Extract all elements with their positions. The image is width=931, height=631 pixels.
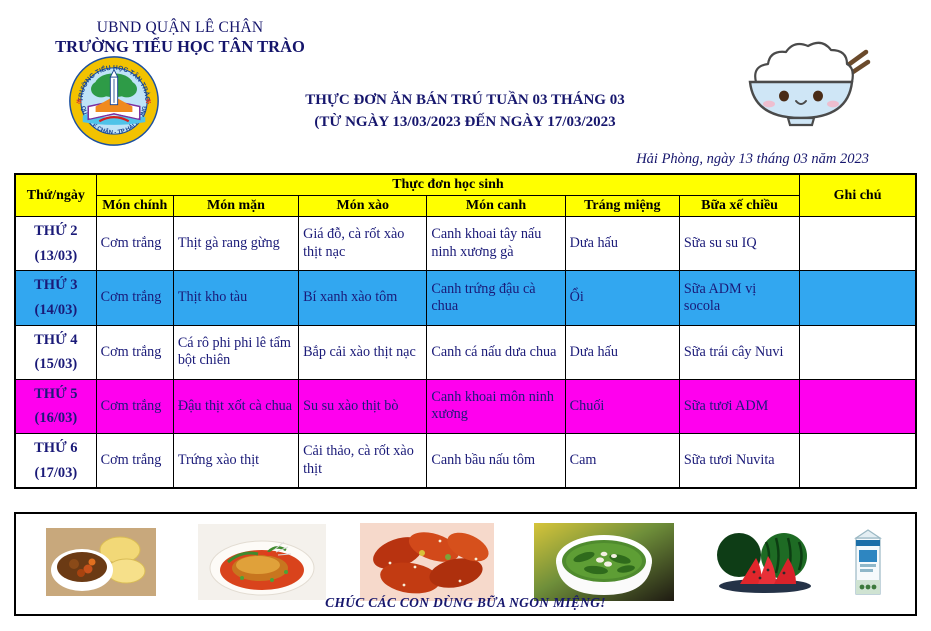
cell-mon-man: Cá rô phi phi lê tẩm bột chiên (173, 325, 298, 379)
title-line-1: THỰC ĐƠN ĂN BÁN TRÚ TUẦN 03 THÁNG 03 (255, 90, 675, 112)
photo-milk-carton (844, 524, 892, 605)
cell-trang-mieng: Dưa hấu (565, 325, 679, 379)
cell-mon-chinh: Cơm trắng (96, 325, 173, 379)
menu-page: UBND QUẬN LÊ CHÂN TRƯỜNG TIỂU HỌC TÂN TR… (0, 0, 931, 631)
svg-text:✻: ✻ (76, 97, 82, 106)
cell-mon-xao: Bí xanh xào tôm (299, 271, 427, 325)
cell-trang-mieng: Chuối (565, 379, 679, 433)
school-emblem-icon: TRƯỜNG TIỂU HỌC TÂN TRÀO QUẬN LÊ CHÂN - … (68, 55, 160, 147)
photo-fried-fish-tomato-sauce (198, 524, 326, 605)
photo-caramelized-pork-ribs (360, 523, 494, 606)
cell-mon-chinh: Cơm trắng (96, 271, 173, 325)
table-row: THỨ 5 (16/03) Cơm trắng Đậu thịt xốt cà … (15, 379, 916, 433)
rice-bowl-mascot-icon (726, 22, 886, 132)
day-name: THỨ 6 (20, 436, 92, 461)
weekly-menu-table: Thứ/ngày Thực đơn học sinh Ghi chú Món c… (14, 173, 917, 489)
cell-bua-xe-chieu: Sữa tươi Nuvita (679, 434, 799, 489)
cell-mon-man: Thịt kho tàu (173, 271, 298, 325)
cell-ghi-chu (800, 379, 916, 433)
cell-bua-xe-chieu: Sữa su su IQ (679, 217, 799, 271)
dateline: Hải Phòng, ngày 13 tháng 03 năm 2023 (636, 151, 869, 168)
day-name: THỨ 5 (20, 382, 92, 407)
col-header-trang-mieng: Tráng miệng (565, 196, 679, 217)
page-header: UBND QUẬN LÊ CHÂN TRƯỜNG TIỂU HỌC TÂN TR… (0, 0, 931, 160)
col-header-mon-chinh: Món chính (96, 196, 173, 217)
page-title: THỰC ĐƠN ĂN BÁN TRÚ TUẦN 03 THÁNG 03 (TỪ… (255, 90, 675, 134)
header-row-bottom: Món chính Món mặn Món xào Món canh Tráng… (15, 196, 916, 217)
photo-braised-meat-with-buns (46, 528, 156, 601)
col-header-mon-man: Món mặn (173, 196, 298, 217)
cell-mon-canh: Canh bầu nấu tôm (427, 434, 565, 489)
org-authority-line: UBND QUẬN LÊ CHÂN (20, 18, 340, 37)
menu-table-wrapper: Thứ/ngày Thực đơn học sinh Ghi chú Món c… (14, 173, 917, 489)
table-row: THỨ 6 (17/03) Cơm trắng Trứng xào thịt C… (15, 434, 916, 489)
cell-bua-xe-chieu: Sữa ADM vị socola (679, 271, 799, 325)
cell-mon-xao: Bắp cải xào thịt nạc (299, 325, 427, 379)
svg-text:✻: ✻ (145, 97, 151, 106)
cell-mon-canh: Canh trứng đậu cà chua (427, 271, 565, 325)
cell-bua-xe-chieu: Sữa tươi ADM (679, 379, 799, 433)
table-row: THỨ 4 (15/03) Cơm trắng Cá rô phi phi lê… (15, 325, 916, 379)
cell-bua-xe-chieu: Sữa trái cây Nuvi (679, 325, 799, 379)
cell-mon-xao: Giá đỗ, cà rốt xào thịt nạc (299, 217, 427, 271)
col-header-mon-xao: Món xào (299, 196, 427, 217)
table-row: THỨ 3 (14/03) Cơm trắng Thịt kho tàu Bí … (15, 271, 916, 325)
table-row: THỨ 2 (13/03) Cơm trắng Thịt gà rang gừn… (15, 217, 916, 271)
col-header-bua-xe-chieu: Bữa xế chiều (679, 196, 799, 217)
header-row-top: Thứ/ngày Thực đơn học sinh Ghi chú (15, 174, 916, 196)
cell-day: THỨ 5 (16/03) (15, 379, 96, 433)
cell-mon-man: Thịt gà rang gừng (173, 217, 298, 271)
col-header-group-student-menu: Thực đơn học sinh (96, 174, 800, 196)
day-date: (13/03) (20, 244, 92, 269)
cell-mon-chinh: Cơm trắng (96, 217, 173, 271)
day-date: (16/03) (20, 406, 92, 431)
cell-trang-mieng: Cam (565, 434, 679, 489)
day-name: THỨ 3 (20, 273, 92, 298)
cell-ghi-chu (800, 271, 916, 325)
cell-trang-mieng: Ổi (565, 271, 679, 325)
day-date: (17/03) (20, 461, 92, 486)
footer-photo-strip: CHÚC CÁC CON DÙNG BỮA NGON MIỆNG! (14, 512, 917, 616)
photo-row: CHÚC CÁC CON DÙNG BỮA NGON MIỆNG! (16, 514, 915, 614)
photo-watermelon (706, 528, 824, 599)
cell-day: THỨ 4 (15/03) (15, 325, 96, 379)
cell-mon-man: Đậu thịt xốt cà chua (173, 379, 298, 433)
day-date: (15/03) (20, 352, 92, 377)
cell-ghi-chu (800, 434, 916, 489)
cell-mon-canh: Canh khoai môn ninh xương (427, 379, 565, 433)
table-body: THỨ 2 (13/03) Cơm trắng Thịt gà rang gừn… (15, 217, 916, 489)
photo-vegetable-soup-bowl (534, 523, 674, 606)
organization-block: UBND QUẬN LÊ CHÂN TRƯỜNG TIỂU HỌC TÂN TR… (20, 18, 340, 58)
cell-ghi-chu (800, 217, 916, 271)
day-name: THỨ 4 (20, 328, 92, 353)
col-header-note: Ghi chú (800, 174, 916, 217)
title-line-2: (TỪ NGÀY 13/03/2023 ĐẾN NGÀY 17/03/2023 (255, 112, 675, 134)
day-name: THỨ 2 (20, 219, 92, 244)
cell-mon-canh: Canh cá nấu dưa chua (427, 325, 565, 379)
col-header-mon-canh: Món canh (427, 196, 565, 217)
cell-day: THỨ 2 (13/03) (15, 217, 96, 271)
cell-mon-man: Trứng xào thịt (173, 434, 298, 489)
cell-day: THỨ 3 (14/03) (15, 271, 96, 325)
cell-trang-mieng: Dưa hấu (565, 217, 679, 271)
cell-ghi-chu (800, 325, 916, 379)
cell-day: THỨ 6 (17/03) (15, 434, 96, 489)
day-date: (14/03) (20, 298, 92, 323)
footer-caption: CHÚC CÁC CON DÙNG BỮA NGON MIỆNG! (16, 595, 915, 611)
cell-mon-chinh: Cơm trắng (96, 379, 173, 433)
cell-mon-chinh: Cơm trắng (96, 434, 173, 489)
cell-mon-xao: Cải thảo, cà rốt xào thịt (299, 434, 427, 489)
cell-mon-xao: Su su xào thịt bò (299, 379, 427, 433)
cell-mon-canh: Canh khoai tây nấu ninh xương gà (427, 217, 565, 271)
table-head: Thứ/ngày Thực đơn học sinh Ghi chú Món c… (15, 174, 916, 217)
col-header-day: Thứ/ngày (15, 174, 96, 217)
